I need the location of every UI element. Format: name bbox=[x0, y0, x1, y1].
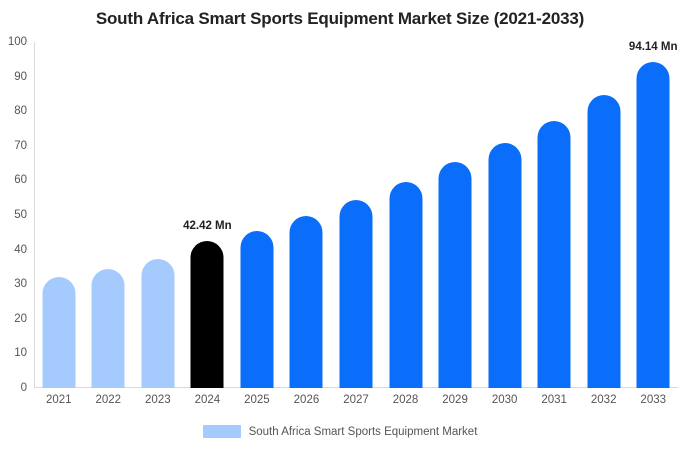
bar-2028[interactable] bbox=[389, 182, 422, 388]
plot-area: 42.42 Mn94.14 Mn 0102030405060708090100 bbox=[34, 42, 678, 388]
bar-2032[interactable] bbox=[587, 95, 620, 388]
bar-2029[interactable] bbox=[439, 162, 472, 388]
x-axis-tick-2031: 2031 bbox=[529, 394, 579, 406]
bar-2025[interactable] bbox=[240, 231, 273, 388]
bar-2033[interactable] bbox=[637, 62, 670, 388]
bar-slot bbox=[381, 42, 431, 388]
y-axis-tick: 40 bbox=[14, 244, 27, 256]
chart-legend: South Africa Smart Sports Equipment Mark… bbox=[0, 425, 680, 438]
bar-slot bbox=[84, 42, 134, 388]
bar-slot bbox=[579, 42, 629, 388]
x-axis-tick-2026: 2026 bbox=[282, 394, 332, 406]
x-axis-tick-2021: 2021 bbox=[34, 394, 84, 406]
x-axis-tick-2032: 2032 bbox=[579, 394, 629, 406]
bar-2030[interactable] bbox=[488, 143, 521, 388]
x-axis-tick-2028: 2028 bbox=[381, 394, 431, 406]
bar-value-label: 42.42 Mn bbox=[183, 220, 232, 232]
legend-label: South Africa Smart Sports Equipment Mark… bbox=[249, 426, 478, 438]
bar-2021[interactable] bbox=[42, 277, 75, 388]
y-axis-tick: 80 bbox=[14, 105, 27, 117]
bar-slot bbox=[282, 42, 332, 388]
legend-swatch bbox=[203, 425, 241, 438]
x-axis-tick-2033: 2033 bbox=[628, 394, 678, 406]
bar-slot: 94.14 Mn bbox=[628, 42, 678, 388]
bar-slot: 42.42 Mn bbox=[183, 42, 233, 388]
x-axis-tick-2030: 2030 bbox=[480, 394, 530, 406]
bar-2023[interactable] bbox=[141, 259, 174, 388]
y-axis-tick: 50 bbox=[14, 209, 27, 221]
bar-slot bbox=[430, 42, 480, 388]
y-axis-tick: 0 bbox=[21, 382, 27, 394]
bar-slot bbox=[331, 42, 381, 388]
x-axis-tick-2023: 2023 bbox=[133, 394, 183, 406]
bar-slot bbox=[232, 42, 282, 388]
x-axis-tick-2027: 2027 bbox=[331, 394, 381, 406]
y-axis-tick: 70 bbox=[14, 140, 27, 152]
bar-value-label: 94.14 Mn bbox=[629, 41, 678, 53]
y-axis-tick: 30 bbox=[14, 278, 27, 290]
bar-slot bbox=[34, 42, 84, 388]
bar-2024[interactable] bbox=[191, 241, 224, 388]
x-axis-tick-2022: 2022 bbox=[84, 394, 134, 406]
bar-chart: South Africa Smart Sports Equipment Mark… bbox=[0, 0, 680, 450]
x-axis-tick-2025: 2025 bbox=[232, 394, 282, 406]
bar-slot bbox=[133, 42, 183, 388]
chart-title: South Africa Smart Sports Equipment Mark… bbox=[0, 9, 680, 29]
y-axis-tick: 100 bbox=[8, 36, 27, 48]
x-axis-tick-2024: 2024 bbox=[183, 394, 233, 406]
bars-layer: 42.42 Mn94.14 Mn bbox=[34, 42, 678, 388]
y-axis-tick: 20 bbox=[14, 313, 27, 325]
bar-2027[interactable] bbox=[339, 200, 372, 388]
y-axis-tick: 90 bbox=[14, 71, 27, 83]
bar-slot bbox=[480, 42, 530, 388]
bar-slot bbox=[529, 42, 579, 388]
y-axis-tick: 10 bbox=[14, 347, 27, 359]
x-axis-tick-2029: 2029 bbox=[430, 394, 480, 406]
x-axis-ticks: 2021202220232024202520262027202820292030… bbox=[34, 394, 678, 412]
bar-2026[interactable] bbox=[290, 216, 323, 388]
y-axis-tick: 60 bbox=[14, 174, 27, 186]
bar-2031[interactable] bbox=[538, 121, 571, 388]
bar-2022[interactable] bbox=[92, 269, 125, 388]
